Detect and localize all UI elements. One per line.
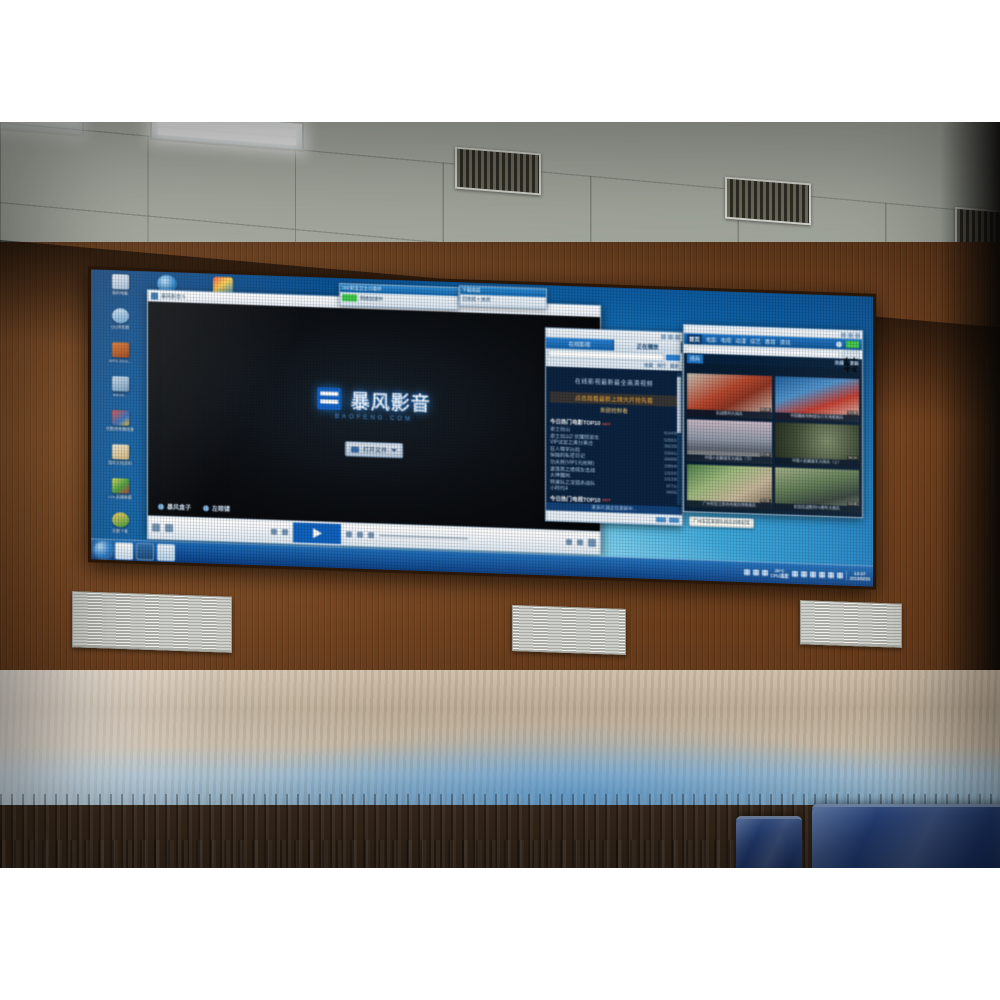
tray-qq-icon[interactable] — [828, 572, 834, 578]
chair-wrapped-left — [736, 816, 802, 868]
chair-plastic-wrap — [812, 807, 1000, 868]
my-computer-icon — [112, 274, 129, 290]
status-icon — [656, 517, 666, 522]
control-spacer — [473, 539, 561, 542]
close-icon[interactable] — [675, 335, 680, 340]
video-card[interactable]: 22:05 中国人民解放军大阅兵（下） — [687, 419, 772, 465]
accelerate-button[interactable] — [342, 294, 357, 302]
desktop-icon-label: 优酷视频播放器 — [97, 426, 143, 433]
chair-plastic-wrap — [736, 819, 802, 868]
eye-mode-icon[interactable] — [165, 524, 173, 532]
tray-volume-icon[interactable] — [753, 569, 759, 575]
mini-window-title: 下载完成 — [462, 287, 480, 294]
status-icon — [669, 517, 679, 522]
qq-browser-icon — [112, 308, 129, 324]
ceiling-air-vent — [725, 177, 811, 226]
item-name: 小时代4 — [550, 486, 568, 493]
baofeng-player-window[interactable]: 暴风影音 5 暴风影音 BAOFENG.COM 打开文件 — [147, 289, 601, 555]
ceiling-air-vent — [455, 147, 541, 196]
next-button[interactable] — [346, 531, 352, 537]
minimize-icon[interactable] — [661, 334, 666, 339]
screenshot-root: 我的电脑 QQ浏览器 WPS 2019... Win10... — [0, 0, 1000, 1000]
subtitle-icon[interactable] — [271, 529, 277, 535]
tab-online-video[interactable]: 在线影视 — [546, 337, 614, 350]
desktop-icon-label: 我的电脑 — [97, 290, 143, 297]
tray-antivirus-icon[interactable] — [810, 571, 816, 577]
baofeng-box-link[interactable]: 暴风盒子 — [158, 502, 191, 512]
maximize-icon[interactable] — [668, 334, 673, 339]
minimize-icon[interactable] — [841, 332, 846, 337]
link-updated[interactable]: 更新 — [850, 361, 859, 367]
system-tray[interactable]: 29°C CPU温度 13:37 2015/9/25 — [744, 567, 871, 582]
folder-icon — [112, 444, 129, 460]
sublink-ranking[interactable]: 排行 — [657, 363, 666, 369]
youku-icon — [112, 410, 129, 426]
video-card[interactable]: 01:56 中国最新特种部队行军亮相阅兵 — [775, 376, 860, 422]
wall-air-vent — [72, 591, 232, 653]
section-links[interactable]: 热播 更新 — [835, 360, 859, 367]
close-icon[interactable] — [855, 333, 860, 338]
taskbar-button-baofeng[interactable] — [115, 542, 133, 560]
wall-air-vent — [512, 605, 626, 655]
cpu-temperature-widget[interactable]: 29°C CPU温度 — [771, 568, 789, 579]
chair-wrapped-right — [812, 804, 1000, 868]
desktop-icon-my-computer[interactable]: 我的电脑 — [97, 274, 143, 308]
video-card[interactable]: 08:24 中国人民解放军大阅兵（上） — [775, 422, 860, 468]
video-card[interactable]: 05:38 抗战胜利大阅兵 — [687, 373, 772, 419]
desktop-icon-documents[interactable]: 我的文档资料 — [97, 444, 143, 478]
sublink-favorites[interactable]: 收藏 — [644, 363, 653, 369]
link-label: 暴风盒子 — [167, 502, 191, 512]
led-video-wall[interactable]: 我的电脑 QQ浏览器 WPS 2019... Win10... — [88, 280, 870, 402]
baofeng-brand-logo: 暴风影音 BAOFENG.COM — [317, 385, 430, 423]
link-hot[interactable]: 热播 — [835, 360, 844, 366]
tray-usb-icon[interactable] — [792, 571, 798, 577]
volume-slider[interactable] — [379, 534, 467, 539]
open-file-label: 打开文件 — [363, 445, 387, 455]
nav-news[interactable]: 资讯 — [780, 338, 791, 346]
stage-gloss-reflection — [0, 670, 1000, 805]
search-button[interactable] — [666, 354, 680, 360]
desktop-icon-label: 迅雷下载 — [97, 528, 143, 535]
stop-button[interactable] — [357, 532, 363, 538]
desktop-icon-qq-browser[interactable]: QQ浏览器 — [97, 308, 143, 342]
control-spacer — [178, 528, 266, 531]
play-icon — [313, 528, 322, 538]
go-button[interactable]: 转到 — [842, 350, 860, 359]
chevron-down-icon[interactable] — [391, 449, 397, 452]
taskbar-button-browser[interactable] — [157, 543, 175, 561]
settings-icon[interactable] — [577, 539, 583, 545]
mini-window-download-complete[interactable]: 下载完成 已完成 × 关闭 — [459, 285, 547, 309]
mini-window-text: 已完成 × 关闭 — [462, 296, 490, 303]
baofeng-logo-mark — [317, 387, 341, 410]
baofeng-brand-name: 暴风影音 — [351, 386, 431, 416]
video-thumbnail-grid: 05:38 抗战胜利大阅兵 01:56 中国最新特种部队行军亮相阅兵 22:05 — [687, 373, 859, 513]
desktop-icon-youku[interactable]: 优酷视频播放器 — [97, 410, 143, 444]
maximize-icon[interactable] — [848, 332, 853, 337]
hot-badge: HOT — [602, 498, 610, 503]
desktop-icon-label: 我的文档资料 — [97, 460, 143, 467]
stage-platform-top — [0, 670, 1000, 805]
video-grid-browser-window[interactable]: 首页 电影 电视 动漫 综艺 教育 资讯 转到 — [683, 324, 863, 518]
desktop-icon-column: 我的电脑 QQ浏览器 WPS 2019... Win10... — [97, 274, 143, 548]
nav-movies[interactable]: 电影 — [706, 335, 717, 343]
taskbar-button-online-video[interactable] — [136, 542, 154, 560]
sublink-newest[interactable]: 最新 — [670, 364, 679, 370]
desktop-icon-wps[interactable]: WPS 2019... — [97, 342, 143, 376]
player-video-area[interactable]: 暴风影音 BAOFENG.COM 打开文件 — [148, 301, 600, 532]
box-icon — [158, 503, 164, 509]
open-file-button[interactable]: 打开文件 — [345, 442, 403, 459]
tray-monitor-icon[interactable] — [837, 572, 843, 578]
folder-icon — [351, 446, 359, 452]
nav-education[interactable]: 教育 — [765, 337, 776, 345]
desktop-icon-label: Win10... — [97, 392, 143, 399]
clock-date: 2015/9/25 — [850, 576, 870, 582]
tray-ime-icon[interactable] — [801, 571, 807, 577]
nav-anime[interactable]: 动漫 — [735, 336, 746, 344]
section-title: 阅兵 — [687, 354, 703, 364]
desktop-icon-label: QQ浏览器 — [97, 324, 143, 331]
mini-window-body: 已完成 × 关闭 — [460, 294, 546, 307]
tab-now-playing[interactable]: 正在播放 — [614, 340, 682, 353]
mini-window-360-assistant[interactable]: 360安全卫士小助手 网络加速中 — [339, 283, 459, 310]
player-app-icon — [151, 292, 158, 299]
start-button[interactable] — [94, 541, 112, 558]
nav-tv[interactable]: 电视 — [721, 336, 732, 344]
listwin-body: 在线影视最新最全高清视频 点击观看最新上映大片抢先看 新剧抢鲜看 今日热门电影T… — [546, 366, 682, 515]
room-photograph: 我的电脑 QQ浏览器 WPS 2019... Win10... — [0, 122, 1000, 868]
windows-desktop[interactable]: 我的电脑 QQ浏览器 WPS 2019... Win10... — [91, 269, 873, 586]
nav-home[interactable]: 首页 — [687, 334, 702, 345]
mini-window-text: 网络加速中 — [360, 295, 383, 302]
prev-button[interactable] — [282, 529, 288, 535]
desktop-icon-label: LOL英雄联盟 — [97, 494, 143, 501]
led-wall-frame: 我的电脑 QQ浏览器 WPS 2019... Win10... — [88, 266, 876, 590]
tray-network-icon[interactable] — [744, 569, 750, 575]
snapshot-icon[interactable] — [566, 539, 572, 545]
video-card[interactable]: 09:55 广州军区江苏舟舟阅兵排练阅兵 — [687, 464, 772, 510]
scrollbar-thumb[interactable] — [677, 377, 681, 433]
room-right-dark-edge — [940, 122, 1000, 762]
player-window-title: 暴风影音 5 — [161, 293, 185, 301]
win10-icon — [112, 376, 129, 392]
tray-shield-icon[interactable] — [762, 570, 768, 576]
play-button[interactable] — [293, 522, 341, 544]
taskbar-clock[interactable]: 13:37 2015/9/25 — [846, 570, 870, 582]
online-video-list-window[interactable]: 在线影视 正在播放 收藏 排行 最新 在线影 — [545, 327, 683, 526]
fullscreen-button[interactable] — [588, 539, 596, 547]
wall-air-vent — [800, 600, 902, 648]
download-status-badge[interactable] — [846, 341, 859, 348]
nav-variety[interactable]: 综艺 — [750, 337, 761, 345]
hot-badge: HOT — [602, 421, 610, 426]
thunder-icon — [112, 512, 129, 528]
link-label: 左眼键 — [212, 504, 230, 514]
listwin-marquee-secondary[interactable]: 新剧抢鲜看 — [550, 404, 678, 416]
eye-icon — [203, 505, 209, 511]
volume-icon[interactable] — [368, 532, 374, 538]
player-bottom-links: 暴风盒子 左眼键 — [158, 502, 230, 514]
wps-icon — [112, 342, 129, 358]
desktop-icon-win10[interactable]: Win10... — [97, 376, 143, 410]
lol-icon — [112, 478, 129, 494]
playlist-icon[interactable] — [152, 523, 160, 531]
left-eye-link[interactable]: 左眼键 — [203, 503, 230, 513]
cpu-temp-label: CPU温度 — [771, 573, 789, 579]
tray-download-icon[interactable] — [819, 572, 825, 578]
gear-icon[interactable] — [836, 341, 842, 347]
listwin-scrollbar[interactable] — [677, 373, 681, 505]
desktop-icon-lol[interactable]: LOL英雄联盟 — [97, 478, 143, 512]
video-card[interactable]: 03:06 纪念抗战胜利70周年大阅兵 — [775, 468, 860, 514]
desktop-icon-label: WPS 2019... — [97, 358, 143, 365]
listwin-heading: 在线影视最新最全高清视频 — [550, 375, 678, 388]
